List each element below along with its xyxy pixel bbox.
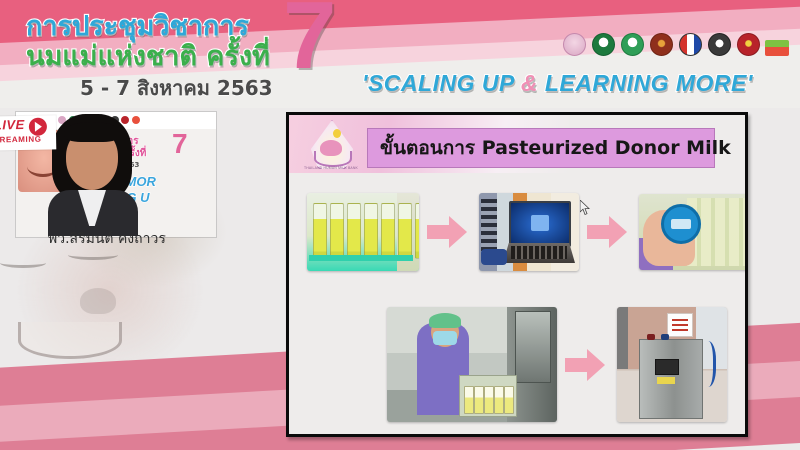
live-streaming-badge: LIVE STREAMING: [0, 115, 56, 150]
thai-flag-shield-logo: [678, 26, 702, 56]
milk-bottles-rack-photo: [307, 193, 419, 271]
thaihealth-sss-logo: [765, 26, 789, 56]
slide-title-text: ขั้นตอนการ Pasteurized Donor Milk: [380, 133, 731, 163]
slide-title-bar: ขั้นตอนการ Pasteurized Donor Milk: [367, 128, 715, 168]
conference-edition-number: 7: [283, 0, 336, 84]
conference-slogan: 'SCALING UP & LEARNING MORE': [362, 70, 753, 97]
conference-title-line2: นมแม่แห่งชาติ ครั้งที่: [26, 34, 270, 77]
human-milk-bank-logo: THAILAND HUMAN MILK BANK: [303, 118, 359, 176]
conference-dates: 5 - 7 สิงหาคม 2563: [80, 72, 273, 104]
laptop-recording-data-photo: [479, 193, 579, 271]
process-arrow-3: [565, 348, 609, 382]
royal-college-logo: [649, 26, 673, 56]
speaker-figure: [52, 114, 132, 232]
department-health-logo: [620, 26, 644, 56]
hand-holding-timer-photo: [639, 194, 748, 270]
process-arrow-2: [587, 215, 631, 249]
process-row-1: [307, 193, 748, 271]
nurse-loading-bottles-photo: [387, 307, 557, 422]
thai-royal-emblem-logo: [562, 26, 586, 56]
organization-logos: [562, 26, 789, 56]
process-row-2: [387, 307, 727, 422]
process-arrow-1: [427, 215, 471, 249]
live-badge-text: LIVE: [0, 117, 25, 133]
slogan-ampersand: &: [521, 70, 538, 96]
pasteurizer-machine-photo: [617, 307, 727, 422]
streaming-badge-text: STREAMING: [0, 135, 42, 145]
slogan-part1: 'SCALING UP: [362, 70, 521, 96]
pediatric-society-logo: [707, 26, 731, 56]
poster-edition-number: 7: [172, 130, 188, 158]
mouse-cursor-icon: [580, 200, 591, 216]
slide-content-panel: THAILAND HUMAN MILK BANK ขั้นตอนการ Past…: [286, 112, 748, 437]
slogan-part2: LEARNING MORE': [538, 70, 753, 96]
play-icon: [29, 118, 47, 136]
breastfeeding-center-logo: [736, 26, 760, 56]
slide-stage: การประชุมวิชาการ นมแม่แห่งชาติ ครั้งที่ …: [0, 0, 800, 450]
conference-header: การประชุมวิชาการ นมแม่แห่งชาติ ครั้งที่ …: [0, 0, 800, 108]
speaker-name-label: พว.สิริมนต์ คงถาวร: [48, 228, 166, 250]
milk-bank-logo-caption: THAILAND HUMAN MILK BANK: [303, 166, 359, 170]
ministry-public-health-logo: [591, 26, 615, 56]
